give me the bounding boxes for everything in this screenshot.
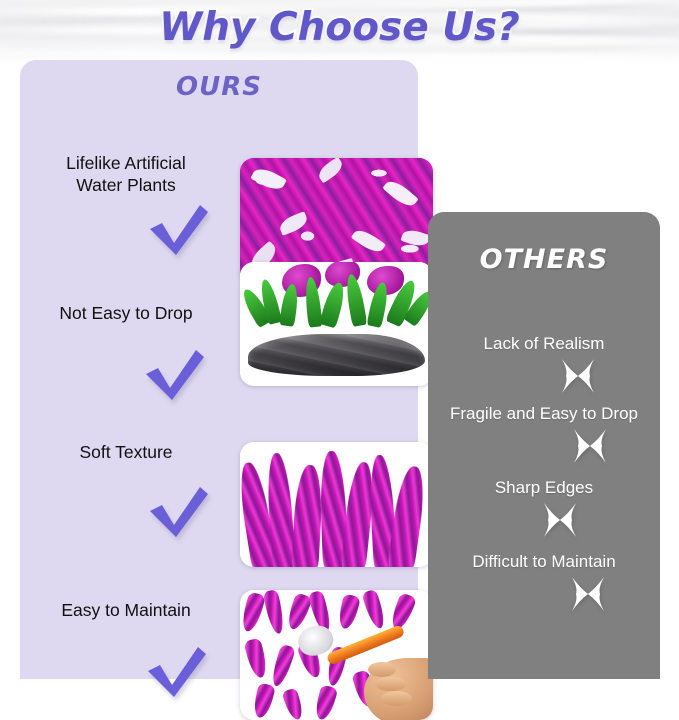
x-icon <box>540 500 580 540</box>
driftwood-base <box>248 334 426 376</box>
ours-panel: OURS Lifelike ArtificialWater Plants Not… <box>20 60 418 679</box>
x-icon <box>568 574 608 614</box>
others-drawback-label: Sharp Edges <box>428 478 660 498</box>
plant-on-driftwood-art <box>240 262 433 386</box>
page-title: Why Choose Us? <box>0 5 679 50</box>
others-drawback-label: Lack of Realism <box>428 334 660 354</box>
check-icon <box>146 645 208 699</box>
ours-feature-row: Not Easy to Drop <box>20 248 418 385</box>
others-drawback-label: Fragile and Easy to Drop <box>428 404 660 424</box>
others-panel-title: OTHERS <box>428 244 660 275</box>
x-icon <box>558 356 598 396</box>
ours-feature-row: Soft Texture <box>20 385 418 525</box>
x-icon <box>570 426 610 466</box>
hand-cleaning-plant-art <box>240 590 433 720</box>
others-panel: OTHERS Lack of Realism Fragile and Easy … <box>428 212 660 679</box>
hand <box>364 658 433 720</box>
ours-feature-image <box>240 262 433 386</box>
ours-panel-title: OURS <box>20 72 418 102</box>
ours-feature-label: Lifelike ArtificialWater Plants <box>28 153 224 197</box>
ours-feature-image <box>240 590 433 720</box>
ours-feature-label: Easy to Maintain <box>28 600 224 622</box>
ours-feature-label: Soft Texture <box>28 442 224 464</box>
ours-feature-row: Lifelike ArtificialWater Plants <box>20 108 418 248</box>
ours-feature-row: Easy to Maintain <box>20 525 418 679</box>
ours-feature-label: Not Easy to Drop <box>28 303 224 325</box>
others-drawback-label: Difficult to Maintain <box>428 552 660 572</box>
